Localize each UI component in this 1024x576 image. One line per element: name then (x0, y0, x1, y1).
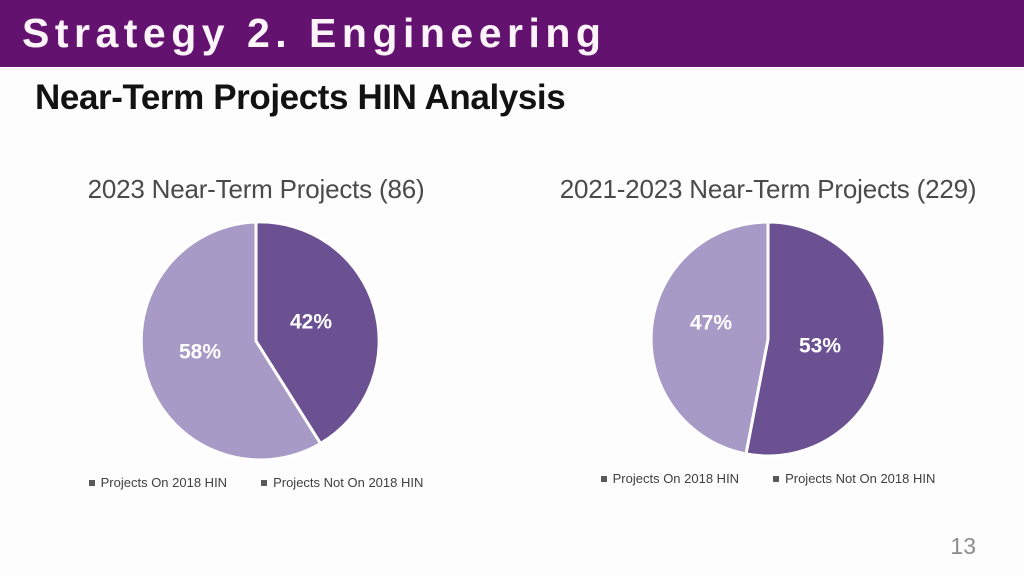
legend-marker-icon (261, 480, 267, 486)
slide: Strategy 2. Engineering Near-Term Projec… (0, 0, 1024, 576)
header-banner: Strategy 2. Engineering (0, 0, 1024, 67)
pie-label-not-on-hin: 53% (799, 335, 841, 358)
pie-svg: 53% 47% (648, 219, 888, 459)
chart-block-2023: 2023 Near-Term Projects (86) 42% 58% Pro… (0, 160, 512, 510)
chart-block-2021-2023: 2021-2023 Near-Term Projects (229) 53% 4… (512, 160, 1024, 510)
pie-label-on-hin: 58% (179, 341, 221, 364)
legend-label: Projects On 2018 HIN (101, 475, 227, 490)
legend-label: Projects Not On 2018 HIN (273, 475, 423, 490)
chart-legend: Projects On 2018 HIN Projects Not On 201… (601, 471, 936, 486)
charts-container: 2023 Near-Term Projects (86) 42% 58% Pro… (0, 160, 1024, 510)
chart-title: 2021-2023 Near-Term Projects (229) (560, 174, 977, 205)
pie-label-not-on-hin: 42% (290, 311, 332, 334)
chart-legend: Projects On 2018 HIN Projects Not On 201… (89, 475, 424, 490)
legend-item-not-on-hin[interactable]: Projects Not On 2018 HIN (773, 471, 935, 486)
legend-item-on-hin[interactable]: Projects On 2018 HIN (601, 471, 739, 486)
legend-item-on-hin[interactable]: Projects On 2018 HIN (89, 475, 227, 490)
page-number: 13 (950, 533, 976, 560)
legend-marker-icon (601, 476, 607, 482)
pie-slice-on-hin (651, 222, 768, 454)
pie-label-on-hin: 47% (690, 312, 732, 335)
pie-chart-2023: 42% 58% (134, 219, 378, 463)
page-title: Near-Term Projects HIN Analysis (35, 78, 565, 118)
banner-title: Strategy 2. Engineering (22, 13, 606, 54)
legend-item-not-on-hin[interactable]: Projects Not On 2018 HIN (261, 475, 423, 490)
legend-label: Projects On 2018 HIN (613, 471, 739, 486)
pie-svg: 42% 58% (134, 219, 378, 463)
legend-marker-icon (773, 476, 779, 482)
chart-title: 2023 Near-Term Projects (86) (88, 174, 425, 205)
pie-chart-2021-2023: 53% 47% (648, 219, 888, 459)
legend-marker-icon (89, 480, 95, 486)
legend-label: Projects Not On 2018 HIN (785, 471, 935, 486)
